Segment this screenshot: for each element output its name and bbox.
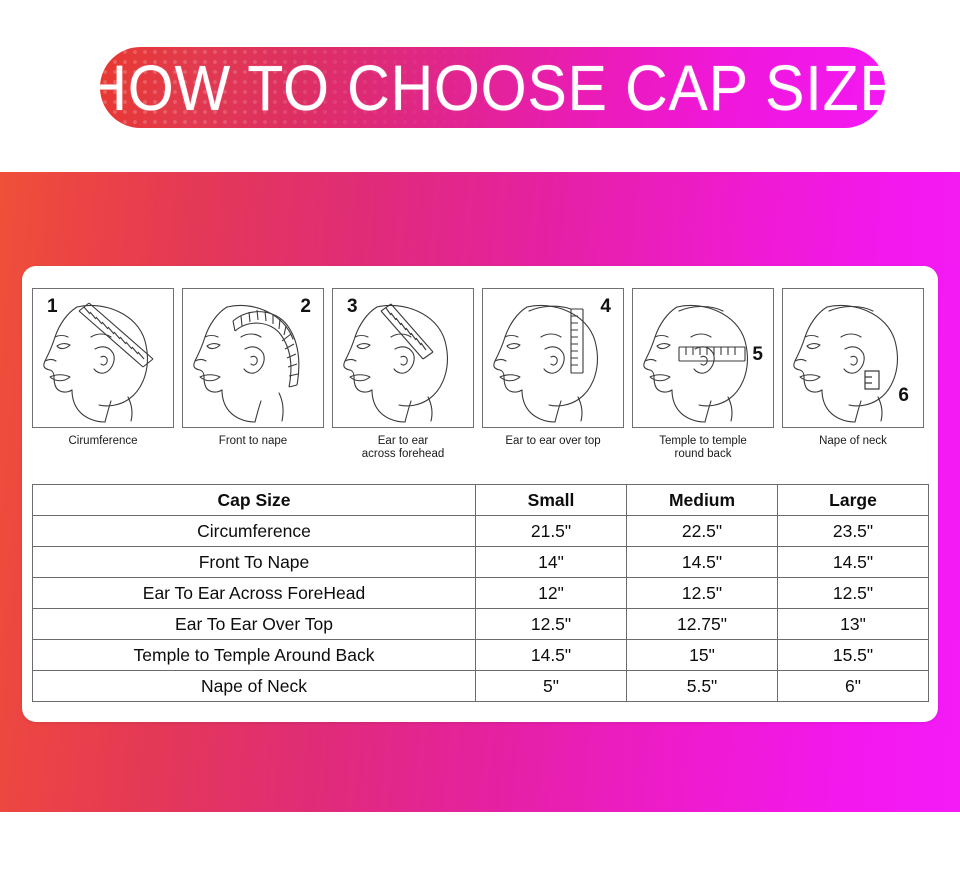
row-large: 6" — [778, 671, 929, 702]
diagram-box-4: 4 — [482, 288, 624, 428]
row-label: Ear To Ear Over Top — [33, 609, 476, 640]
diagram-box-6: 6 — [782, 288, 924, 428]
diagram-caption-5: Temple to temple round back — [632, 435, 774, 461]
diagram-caption-1-line1: Cirumference — [68, 435, 137, 447]
table-row: Temple to Temple Around Back 14.5" 15" 1… — [33, 640, 929, 671]
page-title: HOW TO CHOOSE CAP SIZE — [100, 56, 885, 120]
row-medium: 22.5" — [627, 516, 778, 547]
row-large: 12.5" — [778, 578, 929, 609]
cap-size-infographic: HOW TO CHOOSE CAP SIZE — [0, 0, 960, 870]
row-small: 12.5" — [476, 609, 627, 640]
diagram-number-1: 1 — [47, 297, 58, 316]
title-pill: HOW TO CHOOSE CAP SIZE — [100, 47, 885, 128]
diagram-caption-2-line1: Front to nape — [219, 435, 287, 447]
row-label: Front To Nape — [33, 547, 476, 578]
row-large: 14.5" — [778, 547, 929, 578]
diagram-number-3: 3 — [347, 297, 358, 316]
measurement-diagram-strip: 1 Cirumference — [32, 288, 928, 468]
table-row: Ear To Ear Over Top 12.5" 12.75" 13" — [33, 609, 929, 640]
table-header-row: Cap Size Small Medium Large — [33, 485, 929, 516]
row-small: 5" — [476, 671, 627, 702]
header-band: HOW TO CHOOSE CAP SIZE — [0, 0, 960, 160]
diagram-caption-5-line2: round back — [632, 448, 774, 461]
row-medium: 15" — [627, 640, 778, 671]
diagram-caption-2: Front to nape — [182, 435, 324, 448]
diagram-caption-3-line2: across forehead — [332, 448, 474, 461]
table-row: Nape of Neck 5" 5.5" 6" — [33, 671, 929, 702]
row-small: 21.5" — [476, 516, 627, 547]
head-profile-nape-of-neck-icon — [783, 289, 924, 428]
row-label: Temple to Temple Around Back — [33, 640, 476, 671]
diagram-number-4: 4 — [600, 297, 611, 316]
diagram-number-2: 2 — [300, 297, 311, 316]
cap-size-table: Cap Size Small Medium Large Circumferenc… — [32, 484, 929, 702]
row-large: 13" — [778, 609, 929, 640]
diagram-number-5: 5 — [752, 345, 763, 364]
diagram-caption-4: Ear to ear over top — [482, 435, 624, 448]
table-header-cap-size: Cap Size — [33, 485, 476, 516]
diagram-box-1: 1 — [32, 288, 174, 428]
diagram-panel-6: 6 Nape of neck — [782, 288, 924, 468]
table-row: Ear To Ear Across ForeHead 12" 12.5" 12.… — [33, 578, 929, 609]
row-small: 14" — [476, 547, 627, 578]
row-medium: 5.5" — [627, 671, 778, 702]
row-label: Nape of Neck — [33, 671, 476, 702]
diagram-panel-4: 4 Ear to ear over top — [482, 288, 624, 468]
diagram-caption-4-line1: Ear to ear over top — [505, 435, 600, 447]
diagram-caption-6-line1: Nape of neck — [819, 435, 887, 447]
row-large: 15.5" — [778, 640, 929, 671]
row-small: 12" — [476, 578, 627, 609]
diagram-box-3: 3 — [332, 288, 474, 428]
row-label: Circumference — [33, 516, 476, 547]
row-label: Ear To Ear Across ForeHead — [33, 578, 476, 609]
diagram-panel-5: 5 Temple to temple round back — [632, 288, 774, 468]
diagram-number-6: 6 — [898, 386, 909, 405]
table-header-small: Small — [476, 485, 627, 516]
table-header-medium: Medium — [627, 485, 778, 516]
row-medium: 14.5" — [627, 547, 778, 578]
diagram-panel-1: 1 Cirumference — [32, 288, 174, 468]
diagram-caption-3-line1: Ear to ear — [378, 435, 429, 447]
row-medium: 12.75" — [627, 609, 778, 640]
diagram-box-2: 2 — [182, 288, 324, 428]
table-header-large: Large — [778, 485, 929, 516]
diagram-caption-5-line1: Temple to temple — [659, 435, 747, 447]
row-medium: 12.5" — [627, 578, 778, 609]
table-row: Front To Nape 14" 14.5" 14.5" — [33, 547, 929, 578]
table-row: Circumference 21.5" 22.5" 23.5" — [33, 516, 929, 547]
diagram-caption-1: Cirumference — [32, 435, 174, 448]
diagram-panel-2: 2 Front to nape — [182, 288, 324, 468]
row-large: 23.5" — [778, 516, 929, 547]
diagram-caption-3: Ear to ear across forehead — [332, 435, 474, 461]
diagram-box-5: 5 — [632, 288, 774, 428]
diagram-caption-6: Nape of neck — [782, 435, 924, 448]
row-small: 14.5" — [476, 640, 627, 671]
content-card: 1 Cirumference — [22, 266, 938, 722]
diagram-panel-3: 3 Ear to ear across forehead — [332, 288, 474, 468]
